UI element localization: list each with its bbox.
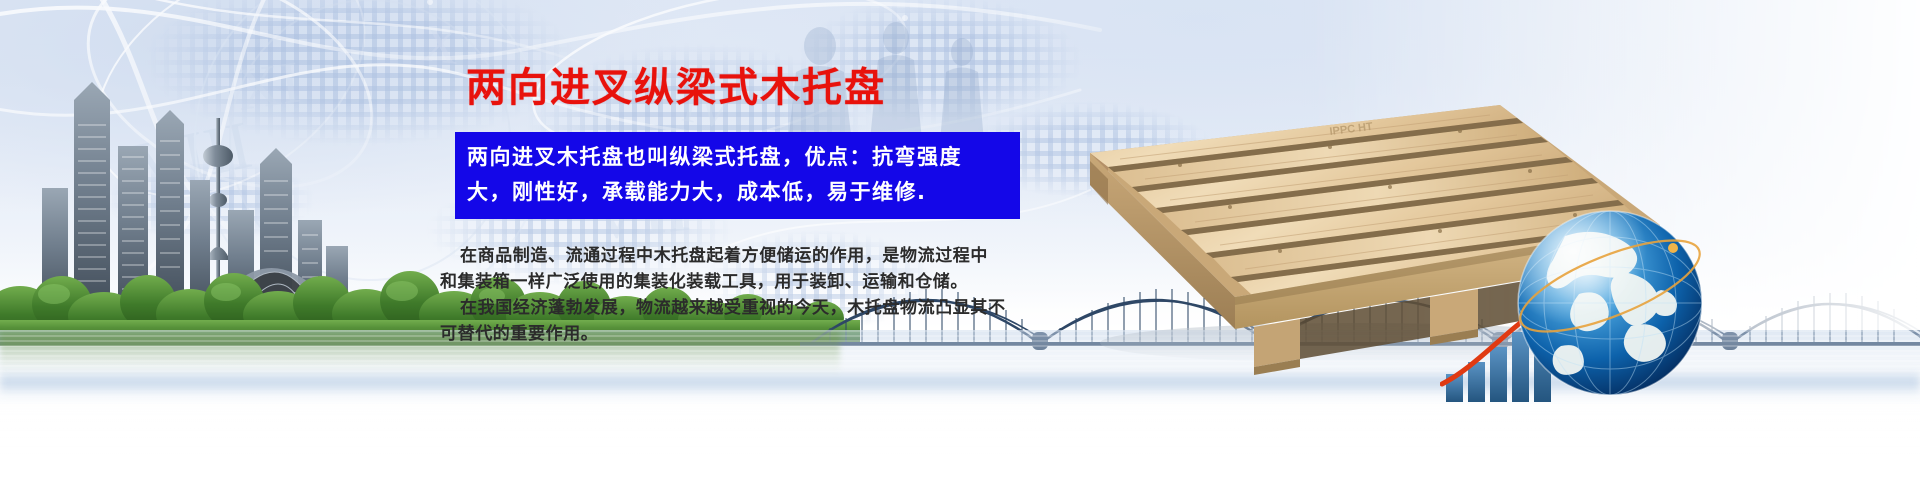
- highlight-callout-box: 两向进叉木托盘也叫纵梁式托盘，优点：抗弯强度 大，刚性好，承载能力大，成本低，易…: [455, 132, 1020, 219]
- paragraph-line-4: 可替代的重要作用。: [440, 321, 1050, 347]
- paragraph-line-1: 在商品制造、流通过程中木托盘起着方便储运的作用，是物流过程中: [440, 243, 1050, 269]
- product-banner: VIII XI X VII IV: [0, 0, 1920, 500]
- callout-line-2: 大，刚性好，承载能力大，成本低，易于维修.: [467, 175, 1010, 210]
- callout-line-1: 两向进叉木托盘也叫纵梁式托盘，优点：抗弯强度: [467, 140, 1010, 175]
- page-title: 两向进叉纵梁式木托盘: [466, 55, 886, 113]
- banner-text-block: 两向进叉纵梁式木托盘 两向进叉木托盘也叫纵梁式托盘，优点：抗弯强度 大，刚性好，…: [0, 0, 1060, 420]
- description-paragraph: 在商品制造、流通过程中木托盘起着方便储运的作用，是物流过程中 和集装箱一样广泛使…: [440, 243, 1050, 347]
- paragraph-line-2: 和集装箱一样广泛使用的集装化装载工具，用于装卸、运输和仓储。: [440, 269, 1050, 295]
- earth-globe-graphic: [1505, 198, 1715, 408]
- orbit-dot: [1668, 243, 1678, 253]
- paragraph-line-3: 在我国经济蓬勃发展，物流越来越受重视的今天，木托盘物流凸显其不: [440, 295, 1050, 321]
